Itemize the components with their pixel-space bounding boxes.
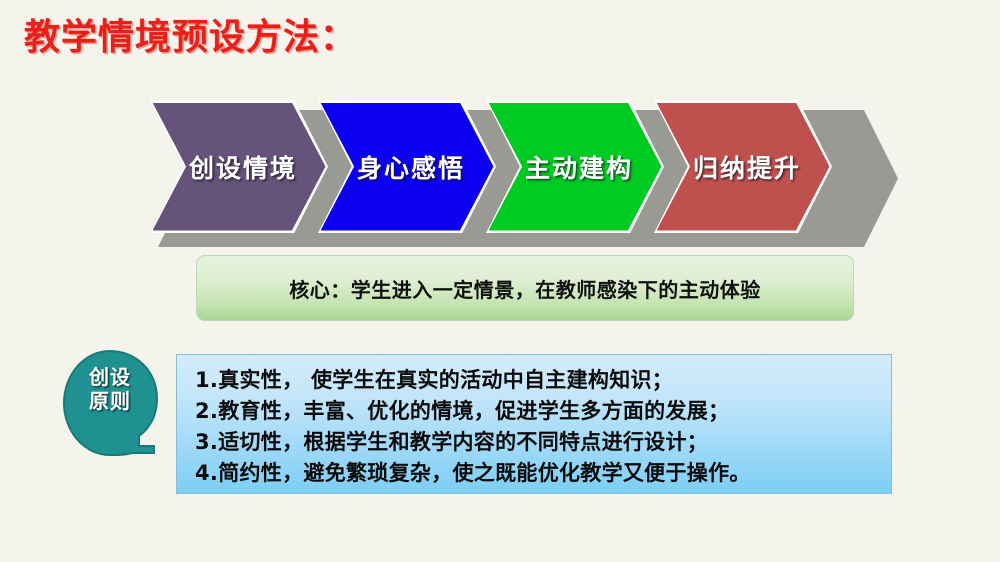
principle-item-1: 1.真实性， 使学生在真实的活动中自主建构知识； [195,365,891,396]
page-title: 教学情境预设方法： [24,18,357,58]
principle-item-3: 3.适切性，根据学生和教学内容的不同特点进行设计； [195,427,891,458]
process-step-4-label: 归纳提升 [693,149,801,185]
principles-callout-bubble: 创设 原则 [62,349,174,457]
principles-callout-text: 创设 原则 [62,365,158,414]
principles-list-box: 1.真实性， 使学生在真实的活动中自主建构知识； 2.教育性，丰富、优化的情境，… [176,354,892,494]
principle-item-2: 2.教育性，丰富、优化的情境，促进学生多方面的发展； [195,396,891,427]
principle-item-4: 4.简约性，避免繁琐复杂，使之既能优化教学又便于操作。 [195,458,891,489]
process-step-2[interactable]: 身心感悟 [318,100,496,233]
process-step-2-label: 身心感悟 [357,149,465,185]
process-step-1-label: 创设情境 [189,149,297,185]
core-statement-text: 核心：学生进入一定情景，在教师感染下的主动体验 [289,274,761,303]
process-step-1[interactable]: 创设情境 [150,100,328,233]
process-chevron-band: 创设情境 身心感悟 主动建构 归纳提升 [150,100,890,248]
process-step-3-label: 主动建构 [525,149,633,185]
principles-callout-line1: 创设 [62,365,158,389]
process-steps: 创设情境 身心感悟 主动建构 归纳提升 [150,100,890,233]
process-step-4[interactable]: 归纳提升 [654,100,832,233]
process-step-3[interactable]: 主动建构 [486,100,664,233]
principles-callout-line2: 原则 [62,389,158,413]
core-statement-box: 核心：学生进入一定情景，在教师感染下的主动体验 [196,255,854,321]
